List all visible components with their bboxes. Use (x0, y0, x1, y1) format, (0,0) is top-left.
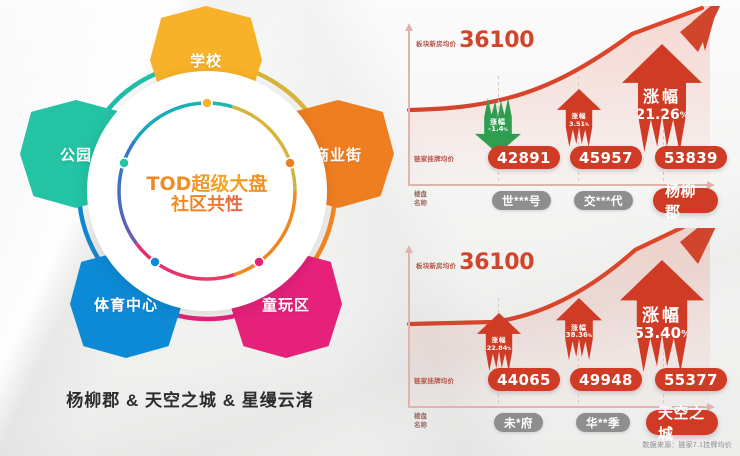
chart1-change-value-1: -1.4 (488, 125, 503, 133)
chart1-price-2: 45957 (570, 146, 642, 169)
chart1-price-3: 53839 (655, 146, 727, 169)
chart2-name-row-label-l1: 楼盘 (414, 413, 427, 422)
chart1-change-label-3: 涨幅 (643, 90, 681, 107)
hexagon-ring-diagram: 学校 商业街 童玩区 体育中心 公园 (22, 6, 362, 376)
chart2-change-value-3: 53.40 (634, 324, 681, 342)
chart1-name-row-label: 楼盘 名称 (414, 191, 427, 209)
chart2-change-unit-1: % (507, 346, 511, 351)
chart1-price-row-label: 链家挂牌均价 (414, 153, 454, 163)
chart2-price-row-label: 链家挂牌均价 (414, 375, 454, 385)
chart1-name-3[interactable]: 杨柳郡 (653, 188, 718, 213)
chart1-name-row-label-l2: 名称 (414, 200, 427, 209)
growth-charts-panel: 板块新房均价 36100 涨幅 -1.4% 涨幅 3.51% 涨幅 2 (380, 0, 740, 456)
chart1-change-unit-2: % (585, 122, 589, 127)
chart2-name-1[interactable]: 未*府 (494, 413, 543, 432)
chart1-benchmark-value: 36100 (459, 30, 534, 52)
chart2-benchmark-value: 36100 (459, 252, 534, 274)
chart1-change-value-2: 3.51 (569, 120, 585, 128)
chart1-x-axis (408, 184, 708, 186)
center-logo-line1: TOD超级大盘 (127, 174, 287, 195)
chart-yangliujun: 板块新房均价 36100 涨幅 -1.4% 涨幅 3.51% 涨幅 2 (380, 6, 740, 224)
chart2-change-unit-2: % (588, 334, 592, 339)
chart1-name-1[interactable]: 世***号 (492, 191, 551, 210)
chart2-name-2[interactable]: 华**季 (576, 413, 630, 432)
chart1-name-2[interactable]: 交***代 (574, 191, 633, 210)
center-logo-line2: 社区共性 (127, 195, 287, 215)
project-caption: 杨柳郡 & 天空之城 & 星缦云渚 (0, 386, 380, 411)
chart2-change-value-1: 22.84 (487, 344, 508, 352)
chart2-change-label-3: 涨幅 (642, 307, 682, 325)
poster-root: 学校 商业街 童玩区 体育中心 公园 (0, 0, 740, 456)
chart2-change-badge-1: 涨幅 22.84% (477, 313, 521, 371)
chart2-name-row: 楼盘 名称 未*府 华**季 天空之城 (408, 411, 718, 437)
chart2-price-3: 55377 (655, 368, 727, 391)
chart1-change-unit-3: % (680, 111, 689, 121)
chart1-benchmark-label: 板块新房均价 (416, 38, 456, 52)
center-logo: TOD超级大盘 社区共性 (127, 174, 287, 215)
chart1-name-row-label-l1: 楼盘 (414, 191, 427, 200)
chart2-change-value-2: 38.36 (566, 331, 588, 339)
chart1-price-1: 42891 (488, 146, 560, 169)
data-source-note: 数据来源：链家7.1挂牌均价 (642, 440, 732, 450)
tod-diagram-panel: 学校 商业街 童玩区 体育中心 公园 (0, 0, 380, 456)
chart1-price-row: 链家挂牌均价 42891 45957 53839 (408, 146, 718, 170)
chart1-change-badge-3: 涨幅 21.26% (622, 44, 702, 152)
chart2-benchmark: 板块新房均价 36100 (416, 252, 534, 274)
chart-tiankongzhicheng: 板块新房均价 36100 涨幅 22.84% 涨幅 38.36% 涨幅 53.4… (380, 228, 740, 446)
chart2-price-row: 链家挂牌均价 44065 49948 55377 (408, 368, 718, 392)
chart1-change-unit-1: % (503, 128, 507, 133)
chart2-change-unit-3: % (681, 329, 690, 340)
chart2-price-2: 49948 (570, 368, 642, 391)
chart1-change-badge-2: 涨幅 3.51% (557, 89, 601, 147)
chart1-name-row: 楼盘 名称 世***号 交***代 杨柳郡 (408, 189, 718, 215)
chart2-change-badge-2: 涨幅 38.36% (556, 298, 602, 360)
chart2-change-badge-3: 涨幅 53.40% (620, 260, 704, 372)
chart2-name-row-label: 楼盘 名称 (414, 413, 427, 431)
chart1-change-value-3: 21.26 (636, 107, 680, 123)
chart2-price-1: 44065 (488, 368, 560, 391)
chart2-benchmark-label: 板块新房均价 (416, 260, 456, 274)
chart2-name-row-label-l2: 名称 (414, 422, 427, 431)
chart2-name-3[interactable]: 天空之城 (646, 410, 718, 435)
chart1-benchmark: 板块新房均价 36100 (416, 30, 534, 52)
